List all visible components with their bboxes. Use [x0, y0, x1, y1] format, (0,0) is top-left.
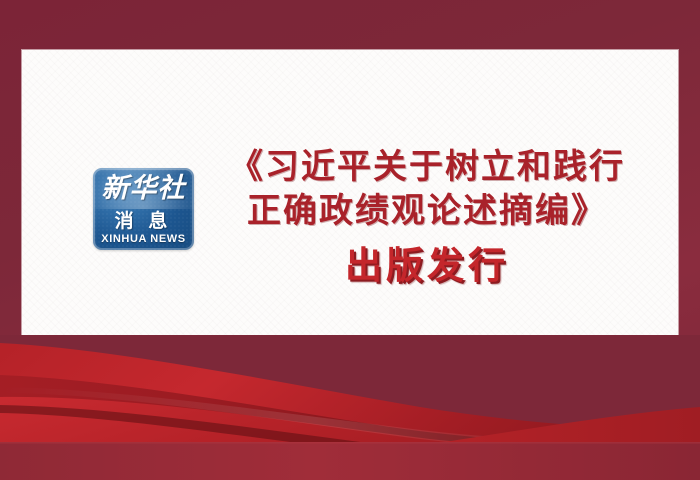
logo-romanized-name: XINHUA NEWS	[93, 233, 194, 245]
white-content-panel: 新华社 消 息 XINHUA NEWS 《习近平关于树立和践行 正确政绩观论述摘…	[22, 50, 678, 357]
headline-block: 《习近平关于树立和践行 正确政绩观论述摘编》 出版发行	[212, 146, 642, 287]
logo-agency-name: 新华社	[93, 173, 194, 204]
book-title-line-2: 正确政绩观论述摘编》	[212, 190, 642, 234]
logo-subtitle-news: 消 息	[93, 206, 194, 233]
decorative-ribbon	[0, 335, 700, 480]
ribbon-waves	[0, 335, 700, 480]
poster-canvas: 新华社 消 息 XINHUA NEWS 《习近平关于树立和践行 正确政绩观论述摘…	[0, 0, 700, 480]
book-title-line-1: 《习近平关于树立和践行	[212, 146, 642, 190]
panel-content: 新华社 消 息 XINHUA NEWS 《习近平关于树立和践行 正确政绩观论述摘…	[22, 50, 678, 357]
xinhua-news-logo: 新华社 消 息 XINHUA NEWS	[93, 168, 194, 250]
publication-announcement: 出版发行	[212, 245, 642, 287]
